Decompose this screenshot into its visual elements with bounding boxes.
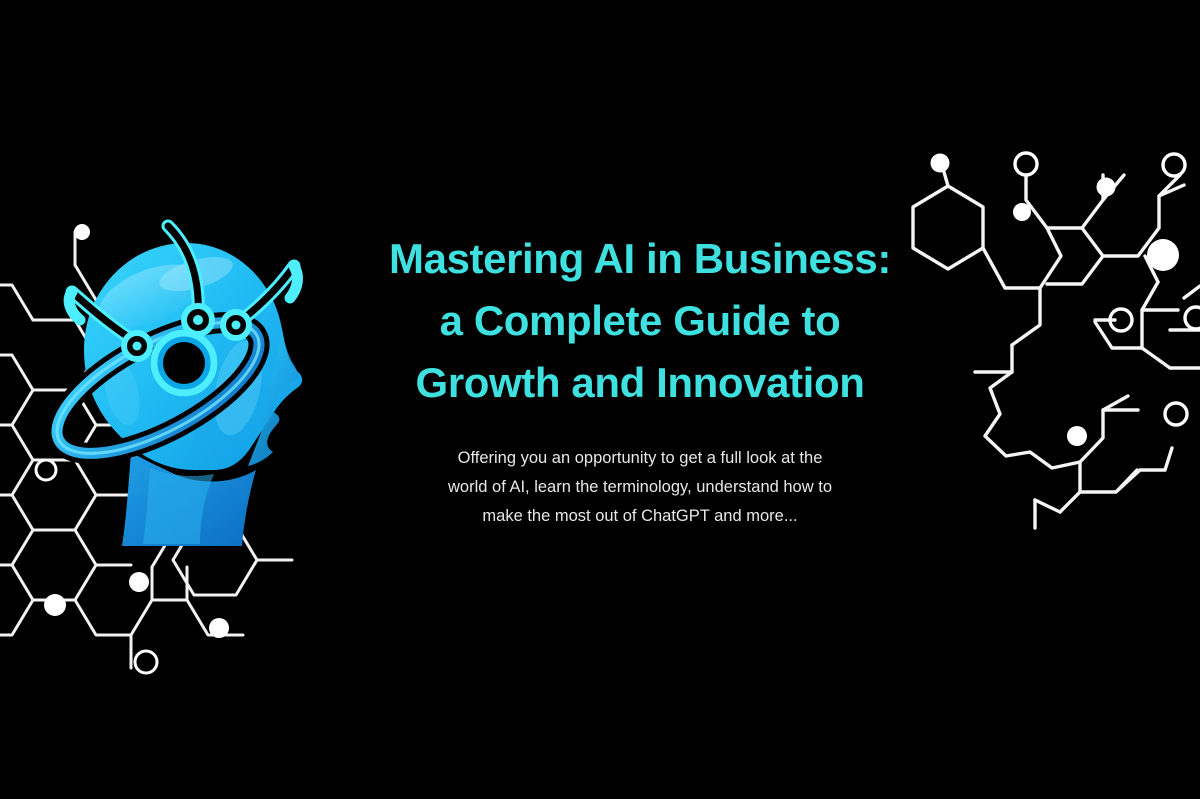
page-subtitle: Offering you an opportunity to get a ful…: [425, 444, 855, 531]
page-title: Mastering AI in Business: a Complete Gui…: [380, 228, 900, 414]
hero-text-block: Mastering AI in Business: a Complete Gui…: [380, 228, 900, 531]
hero-banner: Mastering AI in Business: a Complete Gui…: [0, 0, 1200, 799]
